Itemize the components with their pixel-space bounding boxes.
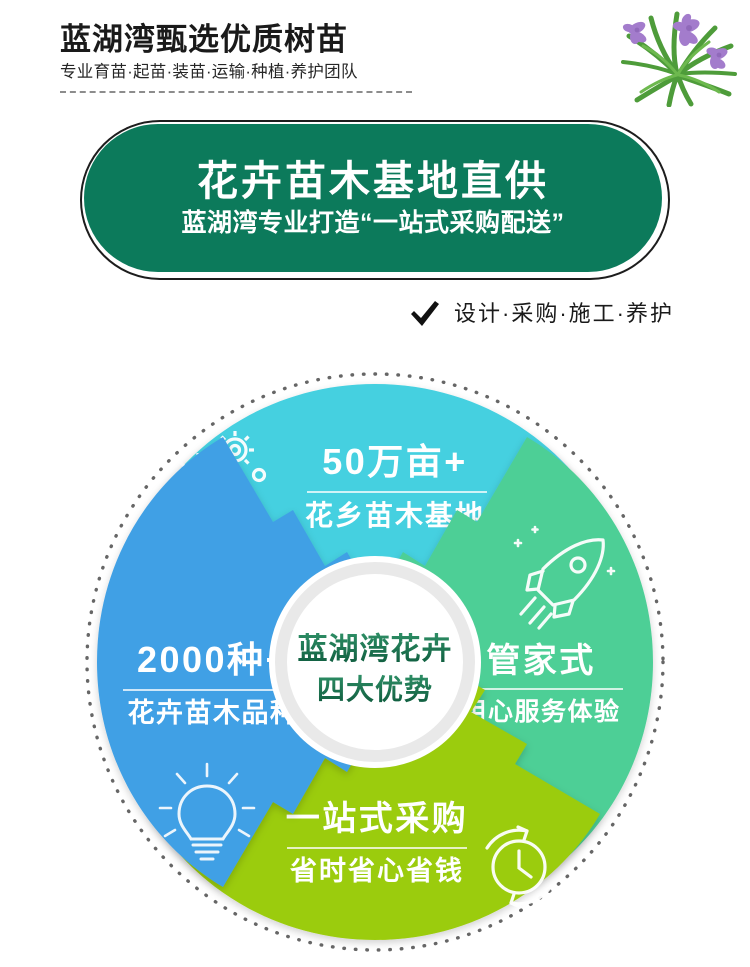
page-header: 蓝湖湾甄选优质树苗 专业育苗·起苗·装苗·运输·种植·养护团队 (0, 0, 750, 112)
headline-banner: 花卉苗木基地直供 蓝湖湾专业打造“一站式采购配送” (80, 120, 670, 280)
segment-bottom-sub: 省时省心省钱 (290, 856, 464, 886)
banner-subheadline: 蓝湖湾专业打造“一站式采购配送” (181, 206, 564, 240)
hub-title: 蓝湖湾花卉 (298, 632, 453, 666)
segment-bottom-main: 一站式采购 (286, 800, 469, 838)
banner-body: 花卉苗木基地直供 蓝湖湾专业打造“一站式采购配送” (84, 124, 662, 272)
page-title: 蓝湖湾甄选优质树苗 (60, 22, 348, 58)
iris-plant-icon (615, 2, 743, 107)
center-hub[interactable]: 蓝湖湾花卉 四大优势 (269, 556, 481, 768)
header-divider (60, 91, 412, 93)
segment-top-main: 50万亩+ (322, 441, 468, 482)
segment-right-main: 管家式 (486, 642, 596, 680)
banner-headline: 花卉苗木基地直供 (197, 156, 549, 206)
hub-subtitle: 四大优势 (317, 674, 433, 705)
check-mark-icon (410, 300, 440, 328)
page-subtitle: 专业育苗·起苗·装苗·运输·种植·养护团队 (60, 62, 358, 82)
segment-left-sub: 花卉苗木品种 (128, 698, 299, 728)
tagline-row: 设计·采购·施工·养护 (410, 300, 674, 328)
segment-left-main: 2000种+ (137, 639, 289, 680)
tagline-text: 设计·采购·施工·养护 (454, 300, 674, 328)
page-root: 蓝湖湾甄选优质树苗 专业育苗·起苗·装苗·运输·种植·养护团队 (0, 0, 750, 967)
four-advantages-diagram: 50万亩+ 花乡苗木基地 管家式 用心服 (75, 362, 675, 962)
